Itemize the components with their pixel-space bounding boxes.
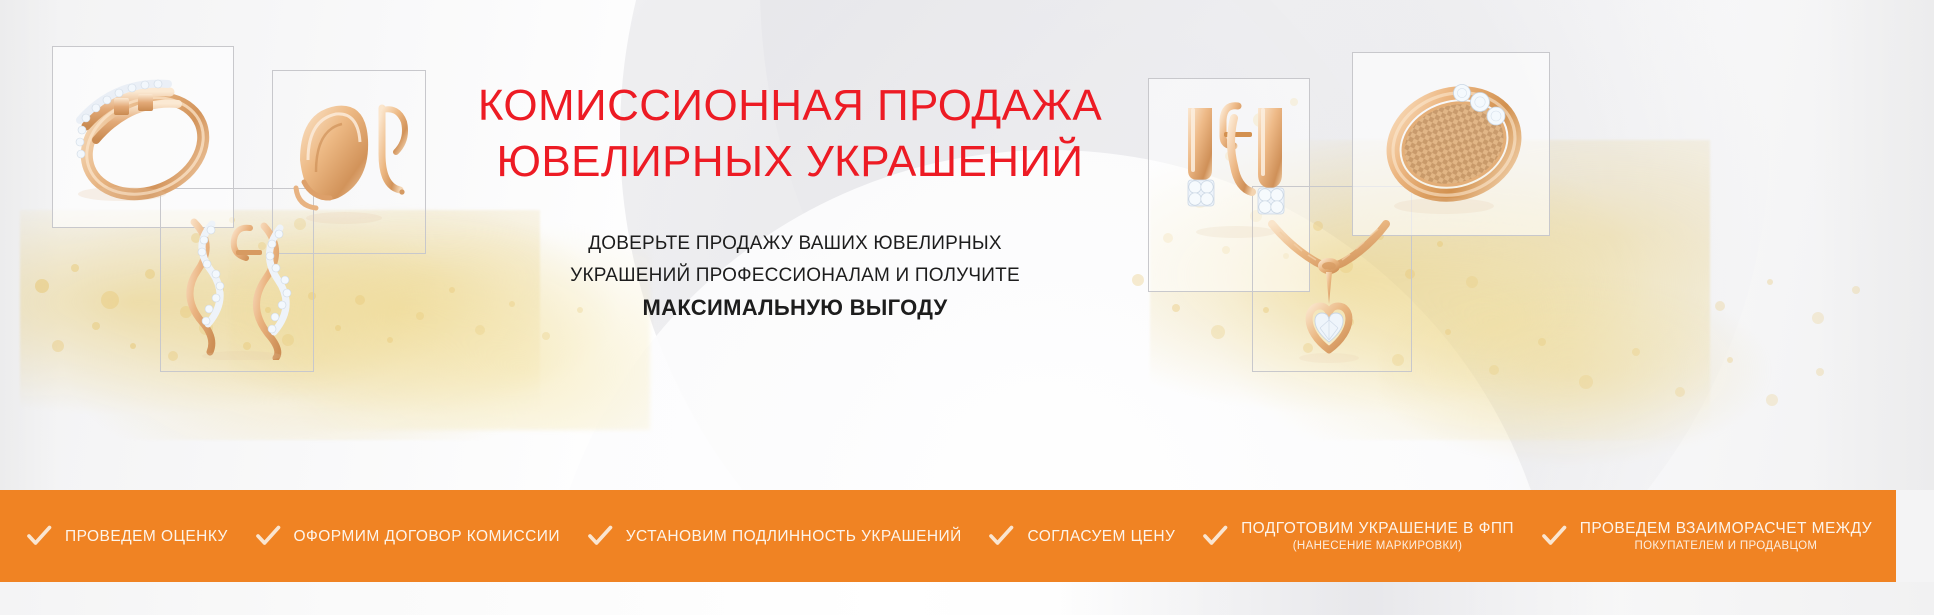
check-icon bbox=[26, 523, 52, 549]
banner-subheadline: ДОВЕРЬТЕ ПРОДАЖУ ВАШИХ ЮВЕЛИРНЫХ УКРАШЕН… bbox=[450, 228, 1140, 324]
benefit-item-price[interactable]: СОГЛАСУЕМ ЦЕНУ bbox=[988, 523, 1175, 549]
subheadline-line-1: ДОВЕРЬТЕ ПРОДАЖУ ВАШИХ ЮВЕЛИРНЫХ bbox=[450, 228, 1140, 260]
benefit-label: ОФОРМИМ ДОГОВОР КОМИССИИ bbox=[294, 527, 560, 546]
benefit-item-marking[interactable]: ПОДГОТОВИМ УКРАШЕНИЕ В ФПП (НАНЕСЕНИЕ МА… bbox=[1202, 519, 1514, 554]
benefit-item-authenticity[interactable]: УСТАНОВИМ ПОДЛИННОСТЬ УКРАШЕНИЙ bbox=[587, 523, 962, 549]
promo-banner: КОМИССИОННАЯ ПРОДАЖА ЮВЕЛИРНЫХ УКРАШЕНИЙ… bbox=[0, 0, 1934, 615]
benefit-label: ПОДГОТОВИМ УКРАШЕНИЕ В ФПП bbox=[1241, 519, 1514, 538]
below-bar-shadow bbox=[1060, 582, 1620, 615]
three-stone-band-ring bbox=[1370, 66, 1536, 218]
headline-line-2: ЮВЕЛИРНЫХ УКРАШЕНИЙ bbox=[430, 134, 1150, 190]
check-icon bbox=[988, 523, 1014, 549]
benefit-sublabel: ПОКУПАТЕЛЕМ И ПРОДАВЦОМ bbox=[1634, 538, 1817, 554]
benefit-label: ПРОВЕДЕМ ВЗАИМОРАСЧЕТ МЕЖДУ bbox=[1580, 519, 1872, 538]
benefits-bar: ПРОВЕДЕМ ОЦЕНКУ ОФОРМИМ ДОГОВОР КОМИССИИ… bbox=[0, 490, 1896, 582]
subheadline-line-2: УКРАШЕНИЙ ПРОФЕССИОНАЛАМ И ПОЛУЧИТЕ bbox=[450, 260, 1140, 292]
below-bar-strip bbox=[0, 582, 1934, 615]
benefit-label: ПРОВЕДЕМ ОЦЕНКУ bbox=[65, 527, 228, 546]
check-icon bbox=[587, 523, 613, 549]
twisted-diamond-earrings bbox=[172, 210, 308, 360]
headline-line-1: КОМИССИОННАЯ ПРОДАЖА bbox=[430, 78, 1150, 134]
benefit-item-settlement[interactable]: ПРОВЕДЕМ ВЗАИМОРАСЧЕТ МЕЖДУ ПОКУПАТЕЛЕМ … bbox=[1541, 519, 1872, 554]
benefit-item-contract[interactable]: ОФОРМИМ ДОГОВОР КОМИССИИ bbox=[255, 523, 560, 549]
benefit-sublabel: (НАНЕСЕНИЕ МАРКИРОВКИ) bbox=[1293, 538, 1463, 554]
heart-pendant-necklace bbox=[1258, 218, 1400, 364]
benefit-label: СОГЛАСУЕМ ЦЕНУ bbox=[1027, 527, 1175, 546]
banner-headline: КОМИССИОННАЯ ПРОДАЖА ЮВЕЛИРНЫХ УКРАШЕНИЙ bbox=[430, 78, 1150, 190]
benefits-bar-right-gap bbox=[1896, 490, 1934, 582]
check-icon bbox=[255, 523, 281, 549]
benefit-label: УСТАНОВИМ ПОДЛИННОСТЬ УКРАШЕНИЙ bbox=[626, 527, 962, 546]
check-icon bbox=[1541, 523, 1567, 549]
benefit-item-appraisal[interactable]: ПРОВЕДЕМ ОЦЕНКУ bbox=[26, 523, 228, 549]
check-icon bbox=[1202, 523, 1228, 549]
diamond-pave-ring bbox=[62, 62, 224, 214]
subheadline-emphasis: МАКСИМАЛЬНУЮ ВЫГОДУ bbox=[450, 292, 1140, 324]
